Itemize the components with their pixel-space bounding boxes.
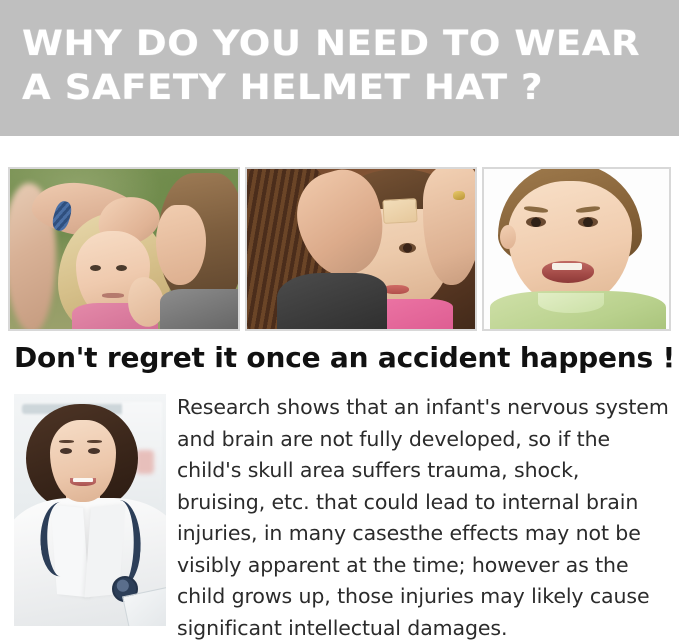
p1-adult-grey-top	[160, 289, 238, 329]
doctor-brow-right	[87, 440, 102, 443]
p2-mother-shoulder	[277, 273, 387, 329]
photo-mother-kissing-child-with-bandage	[245, 167, 477, 331]
p1-girl-eye-left	[90, 265, 101, 271]
photo-1-content	[10, 169, 238, 329]
p3-toddler-collar	[538, 293, 604, 313]
p2-wedding-ring	[453, 191, 465, 200]
subheading: Don't regret it once an accident happens…	[14, 341, 674, 375]
doctor-eye-right	[88, 448, 100, 454]
photo-2-content	[247, 169, 475, 329]
doctor-background-chart	[136, 450, 154, 474]
body-paragraph: Research shows that an infant's nervous …	[177, 392, 673, 644]
header-banner: WHY DO YOU NEED TO WEAR A SAFETY HELMET …	[0, 0, 679, 136]
p1-girl-eye-right	[116, 265, 127, 271]
doctor-brow-left	[59, 440, 74, 443]
photo-3-content	[484, 169, 669, 329]
p3-toddler-teeth	[552, 263, 582, 270]
page-title: WHY DO YOU NEED TO WEAR A SAFETY HELMET …	[22, 22, 679, 110]
p2-child-mouth	[383, 285, 409, 294]
p2-adhesive-bandage	[383, 198, 418, 224]
photo-strip	[8, 167, 671, 331]
doctor-teeth	[73, 478, 93, 482]
doctor-photo	[14, 394, 166, 626]
doctor-eye-left	[60, 448, 72, 454]
photo-adult-examining-childs-head	[8, 167, 240, 331]
photo-crying-toddler	[482, 167, 671, 331]
p1-girl-mouth	[102, 293, 124, 298]
